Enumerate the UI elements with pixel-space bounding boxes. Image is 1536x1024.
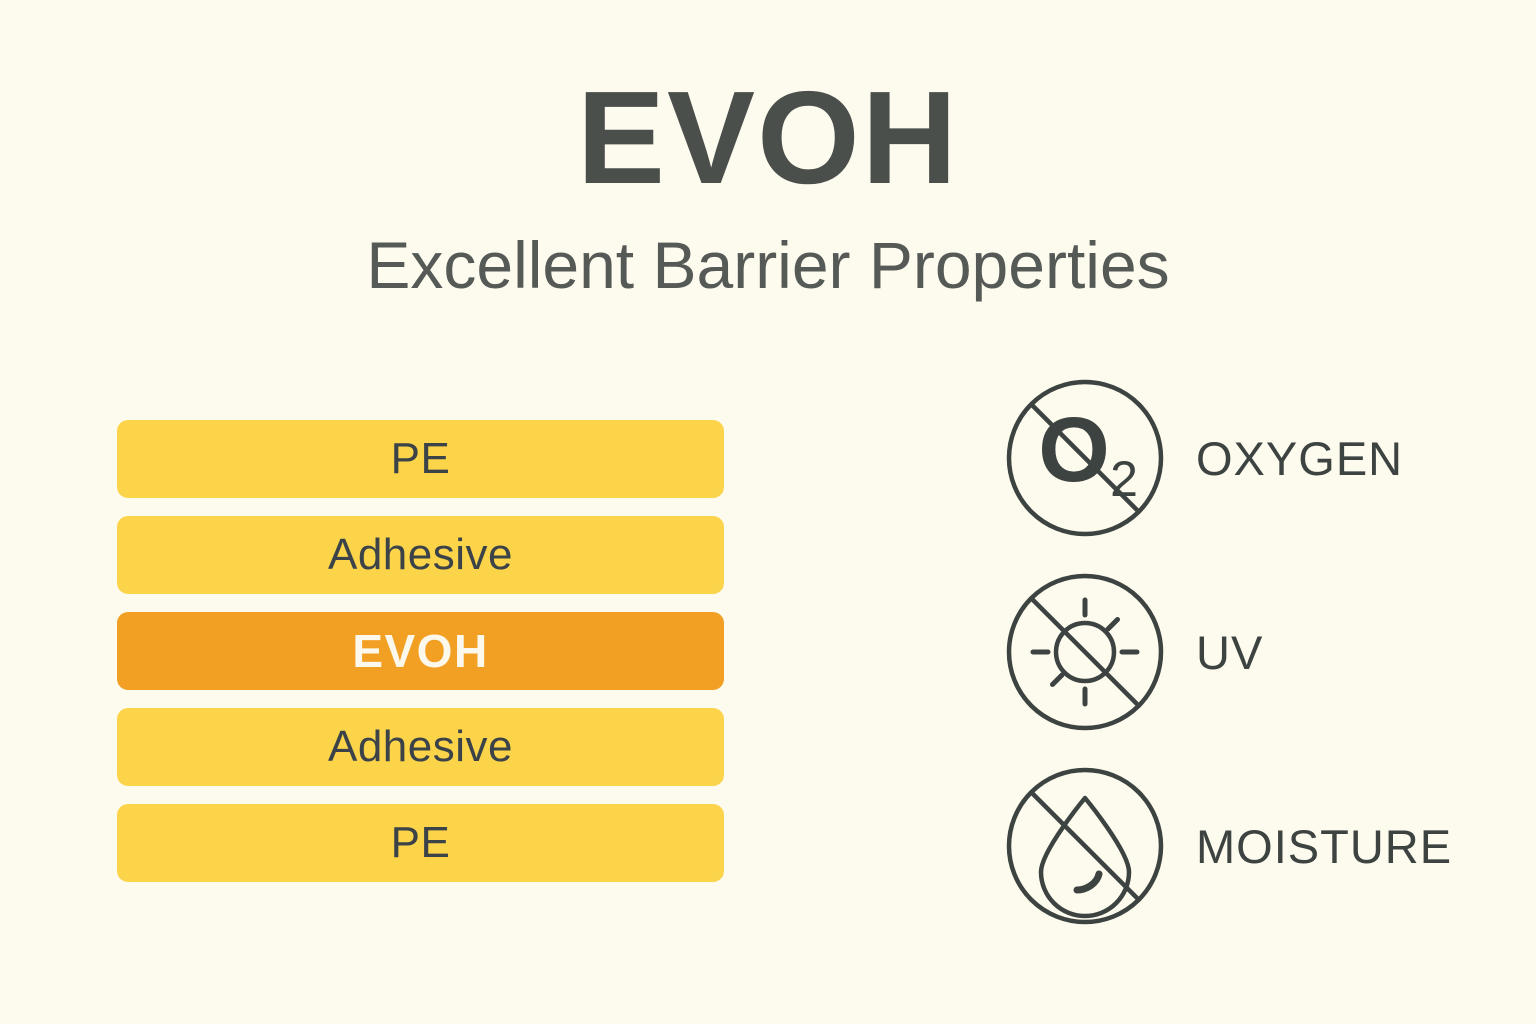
- barrier-item-moisture: MOISTURE: [1004, 766, 1452, 926]
- no-oxygen-icon: O 2: [1004, 378, 1166, 538]
- page-title: EVOH: [0, 72, 1536, 204]
- barrier-item-oxygen: O 2 OXYGEN: [1004, 378, 1452, 538]
- page-subtitle: Excellent Barrier Properties: [0, 204, 1536, 298]
- barrier-item-uv: UV: [1004, 572, 1452, 732]
- header: EVOH Excellent Barrier Properties: [0, 72, 1536, 298]
- layer-stack: PE Adhesive EVOH Adhesive PE: [117, 420, 724, 882]
- layer-row: PE: [117, 420, 724, 498]
- layer-row: Adhesive: [117, 516, 724, 594]
- barrier-label: UV: [1196, 625, 1263, 680]
- layer-label: Adhesive: [328, 530, 513, 580]
- layer-label: PE: [391, 818, 451, 868]
- barrier-label: MOISTURE: [1196, 819, 1452, 874]
- layer-row: Adhesive: [117, 708, 724, 786]
- layer-row: PE: [117, 804, 724, 882]
- no-uv-icon: [1004, 572, 1166, 732]
- no-moisture-icon: [1004, 766, 1166, 926]
- layer-label: PE: [391, 434, 451, 484]
- barrier-label: OXYGEN: [1196, 431, 1403, 486]
- layer-row-highlighted: EVOH: [117, 612, 724, 690]
- layer-label: EVOH: [352, 624, 488, 678]
- barrier-list: O 2 OXYGEN: [1004, 378, 1452, 926]
- infographic-canvas: EVOH Excellent Barrier Properties PE Adh…: [0, 0, 1536, 1024]
- layer-label: Adhesive: [328, 722, 513, 772]
